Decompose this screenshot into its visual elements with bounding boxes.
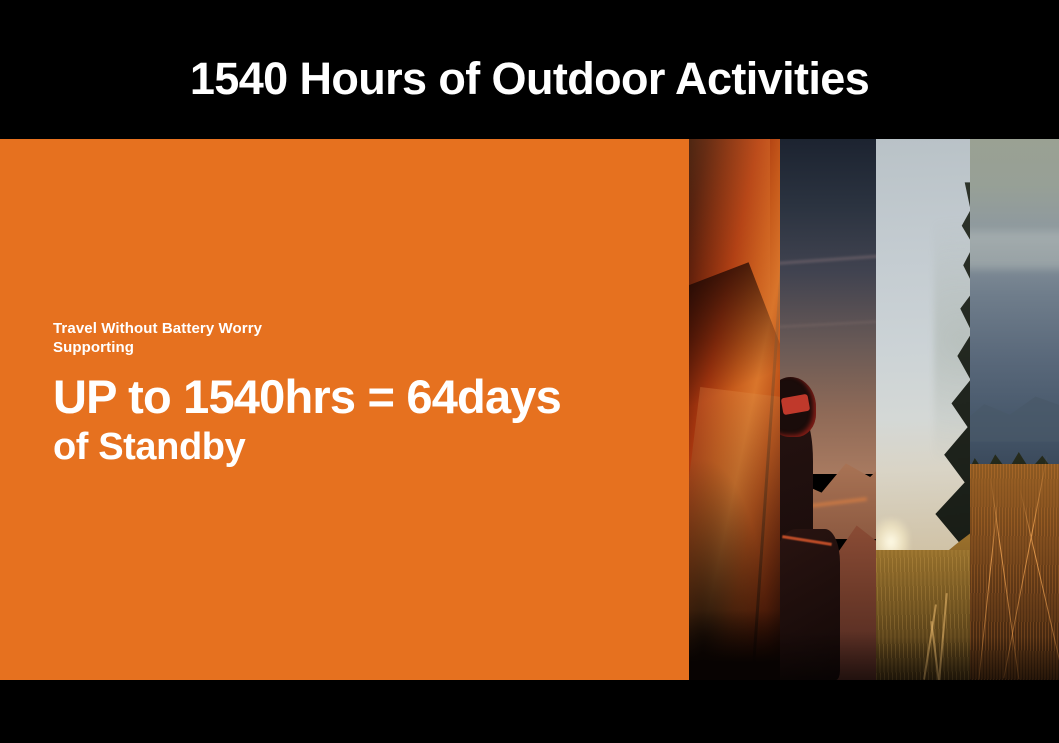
- strip-bottom-shadow: [780, 631, 876, 680]
- photo-strip-pine-tree-meadow: [876, 139, 970, 680]
- photo-strip-golden-grass-field: [970, 139, 1059, 680]
- footer-band: king or Trekking: [0, 680, 1059, 743]
- hero-headline: UP to 1540hrs = 64days: [53, 368, 673, 425]
- page-title: 1540 Hours of Outdoor Activities: [0, 53, 1059, 105]
- photo-strip-desert-motorcyclist: [780, 139, 876, 680]
- hero-stage: Travel Without Battery Worry Supporting …: [0, 139, 1059, 680]
- header-band: 1540 Hours of Outdoor Activities: [0, 0, 1059, 139]
- strip-bottom-shadow: [876, 637, 970, 680]
- hero-subline: of Standby: [53, 424, 673, 470]
- photo-strip-tent-fabric-closeup: [689, 139, 780, 680]
- slide-root: 1540 Hours of Outdoor Activities Travel …: [0, 0, 1059, 743]
- cloud-band: [970, 231, 1059, 269]
- hero-copy-panel: Travel Without Battery Worry Supporting …: [0, 139, 689, 680]
- strip-bottom-shadow: [689, 610, 780, 680]
- strip-bottom-shadow: [970, 637, 1059, 680]
- hero-eyebrow-line-1: Travel Without Battery Worry: [53, 320, 673, 339]
- hero-eyebrow-line-2: Supporting: [53, 339, 673, 358]
- photo-strip-gallery: [689, 139, 1059, 680]
- hero-copy-block: Travel Without Battery Worry Supporting …: [53, 320, 673, 470]
